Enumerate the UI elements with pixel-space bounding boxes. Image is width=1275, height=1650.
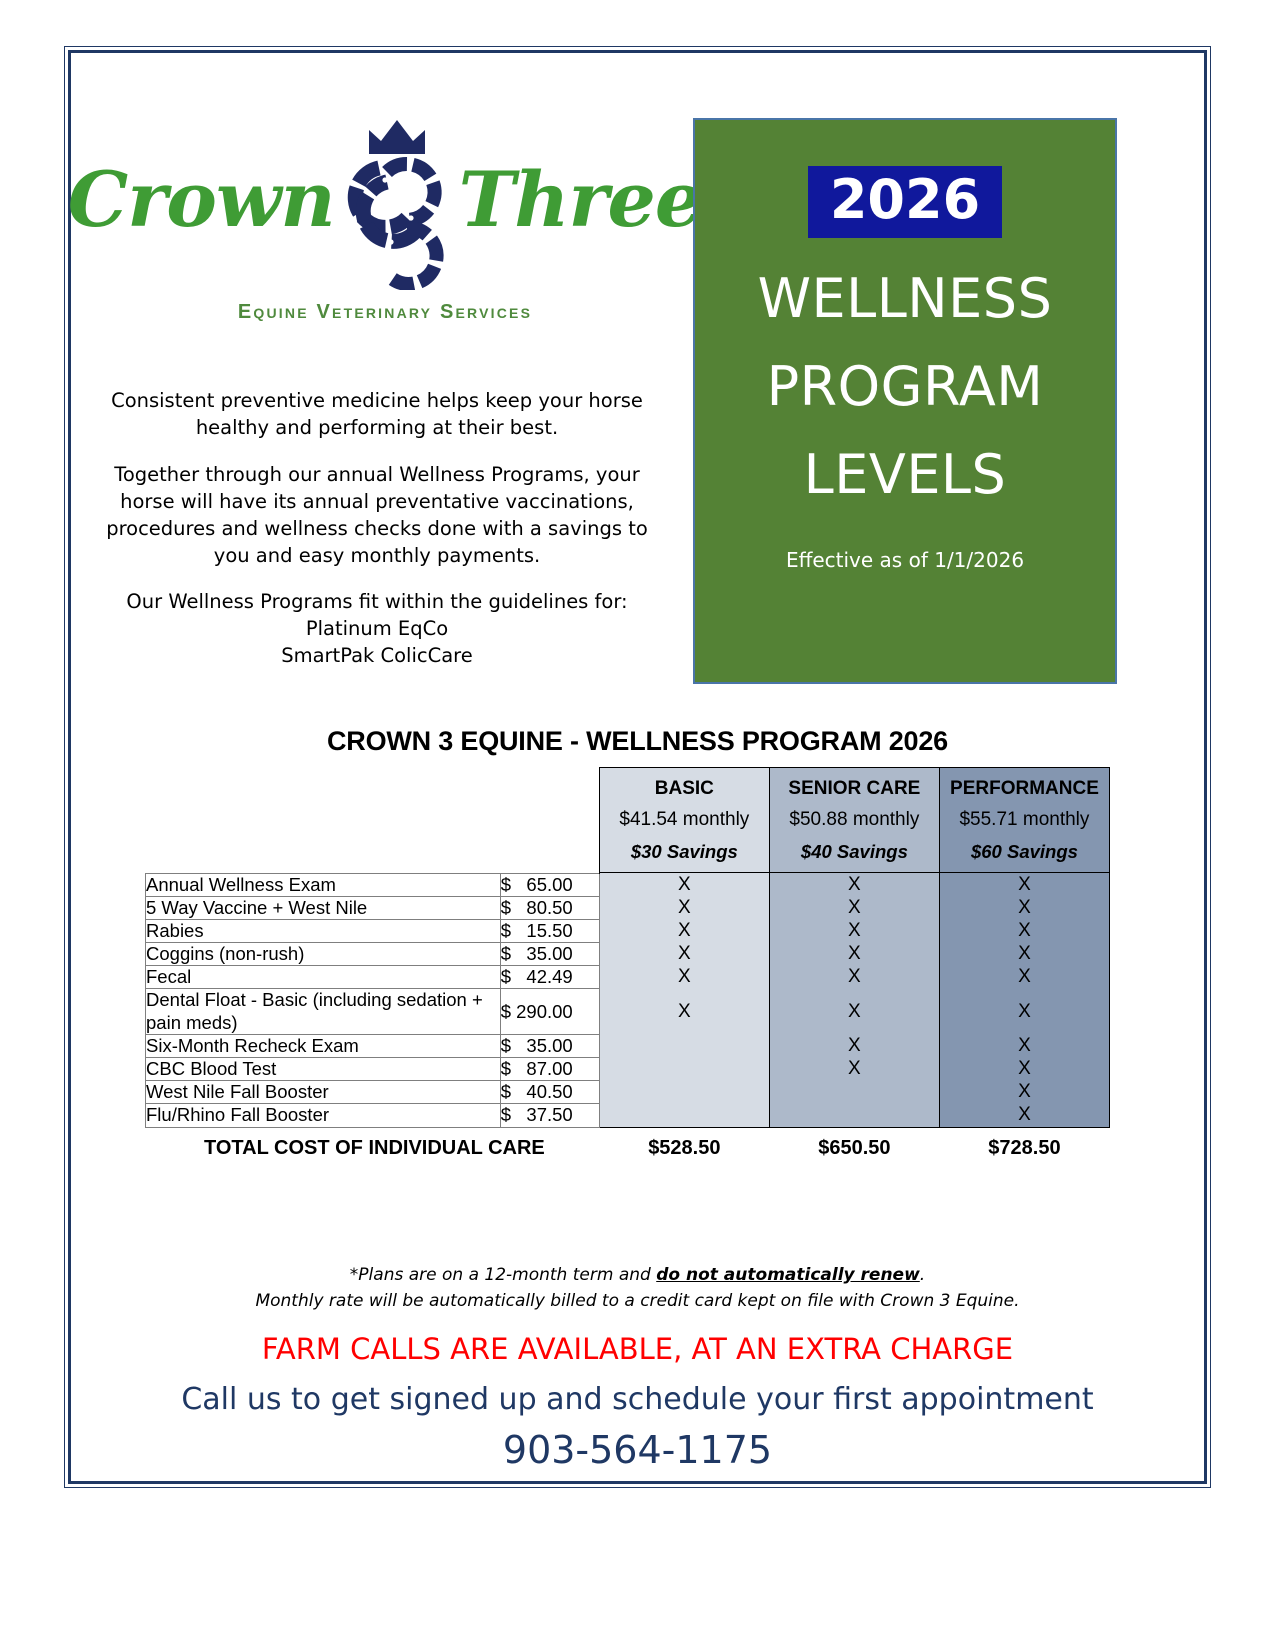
plan-include-mark-performance: X <box>939 919 1109 942</box>
plan-include-mark-performance: X <box>939 873 1109 896</box>
service-price-cell: $ 35.00 <box>500 943 599 966</box>
plan-include-mark-senior: X <box>769 989 939 1034</box>
fine-print-suffix: . <box>920 1265 925 1285</box>
fine-print: *Plans are on a 12-month term and do not… <box>0 1262 1275 1315</box>
plan-include-mark-performance: X <box>939 966 1109 989</box>
table-row: 5 Way Vaccine + West Nile$ 80.50XXX <box>146 896 1110 919</box>
plan-include-mark-basic: X <box>599 873 769 896</box>
intro-paragraph-1: Consistent preventive medicine helps kee… <box>88 388 666 442</box>
table-title: CROWN 3 EQUINE - WELLNESS PROGRAM 2026 <box>0 726 1275 757</box>
guideline-smartpak-coliccare: SmartPak ColicCare <box>281 644 473 667</box>
table-row: Dental Float - Basic (including sedation… <box>146 989 1110 1034</box>
plan-include-mark-basic <box>599 1081 769 1104</box>
total-label: TOTAL COST OF INDIVIDUAL CARE <box>146 1127 600 1160</box>
service-price-cell: $ 80.50 <box>500 896 599 919</box>
plan-include-mark-performance: X <box>939 896 1109 919</box>
hero-line-wellness: WELLNESS <box>695 272 1115 326</box>
service-name-cell: Dental Float - Basic (including sedation… <box>146 989 501 1034</box>
guidelines-heading: Our Wellness Programs fit within the gui… <box>126 590 627 613</box>
fine-print-prefix: *Plans are on a 12-month term and <box>350 1265 656 1285</box>
plan-include-mark-basic <box>599 1058 769 1081</box>
farm-calls-notice: FARM CALLS ARE AVAILABLE, AT AN EXTRA CH… <box>0 1332 1275 1366</box>
service-name-cell: Fecal <box>146 966 501 989</box>
total-value-senior-care: $650.50 <box>769 1127 939 1160</box>
plan-include-mark-basic: X <box>599 896 769 919</box>
service-price-cell: $ 42.49 <box>500 966 599 989</box>
table-row: Annual Wellness Exam$ 65.00XXX <box>146 873 1110 896</box>
service-name-cell: Coggins (non-rush) <box>146 943 501 966</box>
plan-monthly-price: $50.88 monthly <box>770 809 939 841</box>
logo-word-crown: Crown <box>68 162 335 238</box>
plan-include-mark-senior: X <box>769 896 939 919</box>
plan-monthly-price: $41.54 monthly <box>600 809 769 841</box>
header-blank-name <box>146 768 501 874</box>
plan-name: PERFORMANCE <box>940 768 1109 809</box>
plan-include-mark-senior: X <box>769 1058 939 1081</box>
intro-paragraph-2: Together through our annual Wellness Pro… <box>88 462 666 570</box>
service-name-cell: Six-Month Recheck Exam <box>146 1034 501 1057</box>
plan-include-mark-senior <box>769 1104 939 1127</box>
table-row: Rabies$ 15.50XXX <box>146 919 1110 942</box>
logo-tagline: Equine Veterinary Services <box>90 301 680 324</box>
plan-savings: $60 Savings <box>940 841 1109 873</box>
plan-include-mark-senior: X <box>769 919 939 942</box>
plan-savings: $40 Savings <box>770 841 939 873</box>
fine-print-emphasis: do not automatically renew <box>656 1265 920 1285</box>
plan-include-mark-performance: X <box>939 1034 1109 1057</box>
flyer-page: Crown <box>0 0 1275 1650</box>
service-price-cell: $ 15.50 <box>500 919 599 942</box>
plan-include-mark-senior: X <box>769 966 939 989</box>
logo-word-three: Three <box>459 162 703 238</box>
table-row: Fecal$ 42.49XXX <box>146 966 1110 989</box>
total-value-basic: $528.50 <box>599 1127 769 1160</box>
plan-include-mark-basic: X <box>599 943 769 966</box>
table-row: Coggins (non-rush)$ 35.00XXX <box>146 943 1110 966</box>
plan-include-mark-basic <box>599 1034 769 1057</box>
service-price-cell: $ 65.00 <box>500 873 599 896</box>
service-price-cell: $ 35.00 <box>500 1034 599 1057</box>
service-price-cell: $ 37.50 <box>500 1104 599 1127</box>
plan-header-basic: BASIC$41.54 monthly$30 Savings <box>599 768 769 874</box>
hero-year-badge: 2026 <box>808 166 1002 238</box>
service-name-cell: Flu/Rhino Fall Booster <box>146 1104 501 1127</box>
phone-number[interactable]: 903-564-1175 <box>0 1428 1275 1472</box>
plan-include-mark-performance: X <box>939 989 1109 1034</box>
plan-include-mark-performance: X <box>939 1058 1109 1081</box>
plan-include-mark-basic: X <box>599 966 769 989</box>
table-header-row: BASIC$41.54 monthly$30 SavingsSENIOR CAR… <box>146 768 1110 874</box>
call-to-action: Call us to get signed up and schedule yo… <box>0 1382 1275 1417</box>
plan-savings: $30 Savings <box>600 841 769 873</box>
plan-header-performance: PERFORMANCE$55.71 monthly$60 Savings <box>939 768 1109 874</box>
plan-include-mark-basic: X <box>599 989 769 1034</box>
guideline-platinum-eqco: Platinum EqCo <box>306 617 448 640</box>
plan-include-mark-senior: X <box>769 1034 939 1057</box>
intro-text: Consistent preventive medicine helps kee… <box>88 388 666 670</box>
plan-include-mark-performance: X <box>939 1081 1109 1104</box>
hero-effective-date: Effective as of 1/1/2026 <box>695 548 1115 572</box>
hero-line-program: PROGRAM <box>695 360 1115 414</box>
plan-monthly-price: $55.71 monthly <box>940 809 1109 841</box>
wellness-program-table: BASIC$41.54 monthly$30 SavingsSENIOR CAR… <box>145 767 1110 1160</box>
crown-horseshoe-icon <box>341 110 453 290</box>
service-name-cell: Rabies <box>146 919 501 942</box>
total-value-performance: $728.50 <box>939 1127 1109 1160</box>
service-price-cell: $ 290.00 <box>500 989 599 1034</box>
fine-print-line-2: Monthly rate will be automatically bille… <box>0 1288 1275 1314</box>
plan-include-mark-senior: X <box>769 943 939 966</box>
service-name-cell: Annual Wellness Exam <box>146 873 501 896</box>
service-name-cell: 5 Way Vaccine + West Nile <box>146 896 501 919</box>
plan-include-mark-performance: X <box>939 1104 1109 1127</box>
intro-paragraph-3: Our Wellness Programs fit within the gui… <box>88 589 666 670</box>
service-name-cell: CBC Blood Test <box>146 1058 501 1081</box>
plan-include-mark-senior: X <box>769 873 939 896</box>
hero-banner: 2026 WELLNESS PROGRAM LEVELS Effective a… <box>693 118 1117 684</box>
fine-print-line-1: *Plans are on a 12-month term and do not… <box>0 1262 1275 1288</box>
brand-logo: Crown <box>90 105 680 324</box>
hero-line-levels: LEVELS <box>695 448 1115 502</box>
plan-header-senior-care: SENIOR CARE$50.88 monthly$40 Savings <box>769 768 939 874</box>
service-name-cell: West Nile Fall Booster <box>146 1081 501 1104</box>
header-blank-price <box>500 768 599 874</box>
table-row: CBC Blood Test$ 87.00XX <box>146 1058 1110 1081</box>
logo-wordmark-row: Crown <box>90 105 680 295</box>
plan-name: BASIC <box>600 768 769 809</box>
plan-include-mark-senior <box>769 1081 939 1104</box>
table-row: Six-Month Recheck Exam$ 35.00XX <box>146 1034 1110 1057</box>
table-row: Flu/Rhino Fall Booster$ 37.50X <box>146 1104 1110 1127</box>
table-row: West Nile Fall Booster$ 40.50X <box>146 1081 1110 1104</box>
plan-name: SENIOR CARE <box>770 768 939 809</box>
plan-include-mark-basic <box>599 1104 769 1127</box>
service-price-cell: $ 40.50 <box>500 1081 599 1104</box>
plan-include-mark-basic: X <box>599 919 769 942</box>
service-price-cell: $ 87.00 <box>500 1058 599 1081</box>
plan-include-mark-performance: X <box>939 943 1109 966</box>
table-total-row: TOTAL COST OF INDIVIDUAL CARE$528.50$650… <box>146 1127 1110 1160</box>
